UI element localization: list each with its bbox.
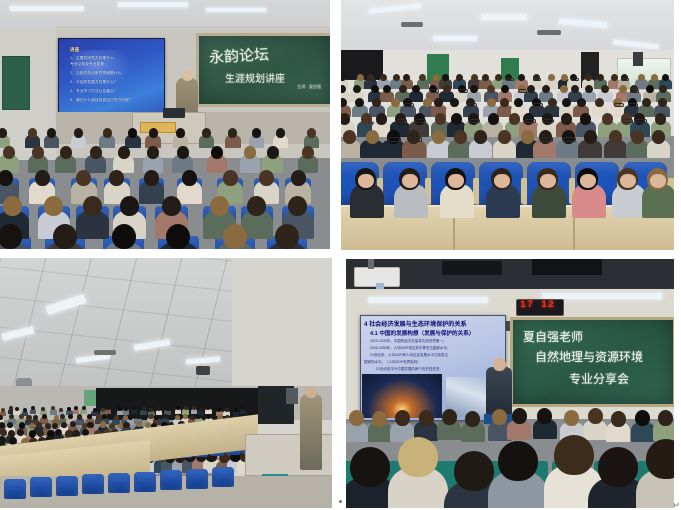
person-head [577, 98, 586, 107]
slide-line: 4、专业学习方法以及重点？ [70, 89, 118, 94]
person-head [76, 170, 91, 186]
person-head [19, 414, 24, 419]
eyeglasses [563, 137, 576, 142]
eyeglasses [518, 89, 527, 93]
person-head [114, 415, 119, 420]
ceiling-fan [401, 22, 423, 27]
person-head [580, 113, 591, 125]
photo-bottom-right[interactable]: 17 12 4 社会经济发展与生态环境保护的关系 4.1 中国的发展构想（发展与… [346, 259, 674, 508]
blackboard: 夏自强老师 自然地理与资源环境 专业分享会 [510, 317, 674, 407]
blackboard-subheading: 生涯规划讲座 [225, 70, 285, 85]
slide-body-line: 国家的水平。（人均GDP世界前列） [364, 360, 421, 365]
classroom-door [2, 56, 30, 110]
person-head [15, 407, 19, 411]
person-head [611, 411, 626, 427]
person-head [223, 224, 247, 249]
projector [196, 366, 210, 375]
eyeglasses [635, 119, 646, 123]
person-head [19, 422, 25, 428]
person-head [247, 196, 266, 216]
person-head [128, 128, 137, 138]
slide-title: 讲座 [70, 47, 79, 53]
person-head [349, 410, 364, 426]
person-head [0, 224, 22, 249]
eyeglasses [368, 78, 376, 81]
person-head [176, 128, 185, 138]
person-head [124, 407, 128, 411]
person-head [564, 410, 579, 426]
slide-title: 4 社会经济发展与生态环境保护的关系 [364, 319, 467, 328]
eyeglasses [469, 119, 480, 123]
anchor-dot [339, 500, 342, 503]
ceiling-fan [94, 350, 116, 355]
person-head [210, 196, 229, 216]
slide-line: 2、当前的热点研究领域是什么。 [70, 71, 125, 76]
eyeglasses [533, 78, 541, 81]
person-head [3, 146, 15, 159]
document-canvas: 讲座 1、主要的研究方向是什么； 专业认知及专业前景； 2、当前的热点研究领域是… [0, 0, 681, 510]
person-head [142, 407, 146, 411]
person-face [358, 174, 374, 188]
person-head [54, 415, 59, 420]
person-head [225, 408, 229, 412]
person-head [267, 146, 279, 159]
person-head [509, 113, 520, 125]
person-head [652, 130, 665, 144]
blackboard-line-1: 夏自强老师 [523, 328, 583, 345]
person-head [118, 407, 122, 411]
eyeglasses [396, 119, 407, 123]
person-head [598, 447, 638, 487]
person-face [448, 174, 464, 188]
instructor-body [300, 394, 322, 470]
person-head [166, 224, 190, 249]
person-body [50, 409, 56, 414]
blackboard-heading: 永韵论坛 [208, 43, 269, 67]
person-head [61, 422, 67, 428]
ceiling-panel [532, 259, 602, 275]
ceiling-light [10, 6, 84, 11]
person-head [554, 435, 594, 475]
person-head [658, 98, 667, 107]
person-head [199, 408, 203, 412]
person-head [17, 429, 24, 436]
slide-body-line: 2020-2030年，中国的经济总量将达到世界第一； [370, 339, 446, 344]
person-head [642, 98, 651, 107]
person-head [32, 146, 44, 159]
person-head [154, 415, 159, 420]
eyeglasses [628, 103, 638, 107]
ceiling-fan [537, 30, 561, 35]
person-head [341, 113, 350, 125]
person-head [302, 146, 314, 159]
wall-speaker [633, 52, 643, 66]
person-head [435, 113, 446, 125]
photo-top-left-scene: 讲座 1、主要的研究方向是什么； 专业认知及专业前景； 2、当前的热点研究领域是… [0, 0, 330, 249]
person-head [87, 422, 93, 428]
eyeglasses [630, 89, 639, 93]
person-head [498, 130, 511, 144]
person-head [103, 128, 112, 138]
person-head [542, 85, 550, 93]
person-head [398, 437, 438, 477]
person-head [202, 128, 211, 138]
person-head [77, 414, 82, 419]
chair [82, 474, 104, 494]
person-head [275, 224, 299, 249]
photo-bottom-right-scene: 17 12 4 社会经济发展与生态环境保护的关系 4.1 中国的发展构想（发展与… [346, 259, 674, 508]
person-head [100, 421, 106, 427]
audience [0, 132, 330, 249]
laptop [163, 108, 185, 118]
person-head [118, 146, 130, 159]
person-head [443, 85, 451, 93]
person-head [44, 196, 63, 216]
eyeglasses [388, 137, 401, 142]
chair [212, 467, 234, 487]
eyeglasses [415, 119, 426, 123]
person-head [498, 441, 538, 481]
person-head [0, 415, 3, 420]
person-head [635, 410, 650, 426]
person-head [252, 128, 261, 138]
eyeglasses [543, 119, 554, 123]
person-face [402, 174, 418, 188]
person-head [36, 422, 42, 428]
person-head [450, 98, 459, 107]
eyeglasses [614, 103, 624, 107]
person-head [488, 113, 499, 125]
person-head [419, 410, 434, 426]
ceiling-panel [442, 261, 502, 275]
person-face [620, 174, 636, 188]
person-head [474, 130, 487, 144]
person-head [357, 74, 364, 81]
person-head [28, 128, 37, 138]
person-head [109, 423, 115, 429]
chair [30, 477, 52, 497]
person-head [646, 439, 674, 479]
person-head [35, 170, 50, 186]
person-head [47, 128, 56, 138]
person-head [376, 113, 387, 125]
eyeglasses [571, 78, 579, 81]
person-head [454, 130, 467, 144]
person-head [399, 85, 407, 93]
slide-body-line: 21世纪前半叶中国发展的两个历史性任务。 [376, 367, 443, 372]
blackboard: 永韵论坛 生涯规划讲座 主讲：夏自强 [196, 33, 330, 107]
person-head [74, 128, 83, 138]
person-head [33, 415, 38, 420]
person-head [144, 170, 159, 186]
person-head [259, 170, 274, 186]
projector-mount [368, 259, 374, 269]
person-head [548, 98, 557, 107]
slide-line: 3、今后的发展方向是什么？ [70, 80, 118, 85]
person-head [60, 146, 72, 159]
person-head [423, 98, 432, 107]
person-head [571, 85, 579, 93]
person-head [157, 407, 161, 411]
eyeglasses [404, 103, 414, 107]
person-face [580, 174, 596, 188]
person-head [23, 408, 27, 412]
person-head [190, 415, 195, 420]
instructor-head [305, 386, 317, 398]
person-head [90, 146, 102, 159]
person-head [395, 410, 410, 426]
person-head [584, 130, 597, 144]
person-head [162, 196, 181, 216]
person-head [244, 146, 256, 159]
chair [108, 473, 130, 493]
led-clock-time: 17 12 [520, 300, 555, 311]
person-head [655, 113, 666, 125]
person-head [59, 408, 63, 412]
photo-top-right[interactable] [341, 0, 674, 250]
person-head [109, 170, 124, 186]
eyeglasses [467, 103, 477, 107]
eyeglasses [524, 119, 535, 123]
person-head [42, 414, 47, 419]
person-head [3, 196, 22, 216]
person-head [1, 408, 5, 412]
person-head [123, 422, 129, 428]
person-head [611, 74, 618, 81]
person-head [465, 411, 480, 427]
eyeglasses [622, 119, 633, 123]
person-head [112, 224, 136, 249]
person-head [74, 406, 78, 410]
person-head [106, 406, 110, 410]
person-head [288, 196, 307, 216]
person-head [609, 130, 622, 144]
chair [4, 479, 26, 499]
person-face [650, 174, 666, 188]
person-head [166, 407, 170, 411]
slide-subtitle: 4.1 中国的发展构想（发展与保护的关系） [370, 329, 474, 337]
person-head [7, 422, 13, 428]
ceiling-light [481, 14, 527, 20]
person-head [588, 408, 603, 424]
person-head [454, 451, 494, 491]
person-head [521, 130, 534, 144]
speaker-head [493, 358, 506, 371]
person-head [658, 410, 673, 426]
photo-top-right-scene [341, 0, 674, 250]
lecturer-head [182, 70, 193, 81]
person-head [120, 196, 139, 216]
ceiling-light [368, 297, 488, 303]
person-head [163, 414, 168, 419]
audience-backs [346, 407, 674, 508]
person-head [55, 429, 62, 436]
person-head [128, 415, 133, 420]
person-head [93, 408, 97, 412]
ceiling-light [433, 36, 477, 41]
person-head [350, 447, 390, 487]
blackboard-line-3: 专业分享会 [569, 370, 629, 387]
person-head [512, 408, 527, 424]
person-head [175, 415, 180, 420]
eyeglasses [459, 89, 468, 93]
person-head [276, 128, 285, 138]
chair [56, 476, 78, 496]
eyeglasses [430, 89, 439, 93]
ceiling-light [206, 8, 266, 12]
person-head [482, 74, 489, 81]
photo-bottom-left[interactable] [0, 258, 332, 508]
person-head [0, 128, 7, 138]
person-head [442, 409, 457, 425]
person-head [291, 170, 306, 186]
person-head [0, 422, 5, 428]
ceiling-light [118, 2, 188, 7]
person-body [80, 409, 86, 414]
eyeglasses [533, 103, 543, 107]
person-head [561, 113, 572, 125]
eyeglasses [409, 137, 422, 142]
person-head [223, 170, 238, 186]
eyeglasses [621, 78, 629, 81]
person-head [68, 414, 73, 419]
slide-line: 1、主要的研究方向是什么； [70, 56, 118, 61]
person-head [432, 130, 445, 144]
person-head [53, 224, 77, 249]
person-head [149, 128, 158, 138]
person-head [631, 130, 644, 144]
slide-body-line: 21世纪末，人均GDP和人均社会发展水平达到发达 [370, 353, 448, 358]
chair [186, 469, 208, 489]
person-head [361, 113, 372, 125]
person-head [372, 411, 387, 427]
person-head [147, 146, 159, 159]
eyeglasses [540, 137, 553, 142]
wall-speaker [286, 388, 298, 404]
person-face [540, 174, 556, 188]
photo-bottom-left-scene [0, 258, 332, 508]
slide-line: 5、通过什么途径找到自己的方向呢？ [70, 98, 133, 103]
person-head [83, 196, 102, 216]
person-head [136, 414, 141, 419]
person-head [602, 113, 613, 125]
chair [134, 472, 156, 492]
person-head [211, 146, 223, 159]
person-head [307, 128, 316, 138]
blackboard-signature: 主讲：夏自强 [297, 84, 321, 90]
person-head [343, 130, 356, 144]
person-head [366, 130, 379, 144]
person-head [585, 74, 592, 81]
eyeglasses [506, 78, 514, 81]
person-head [487, 98, 496, 107]
photo-top-left[interactable]: 讲座 1、主要的研究方向是什么； 专业认知及专业前景； 2、当前的热点研究领域是… [0, 0, 330, 249]
chair [160, 470, 182, 490]
person-head [177, 146, 189, 159]
person-face [494, 174, 510, 188]
person-head [537, 408, 552, 424]
person-head [228, 128, 237, 138]
slide-body-line: 2040-2050年，人均GDP将达到中等发达国家水平； [370, 346, 450, 351]
blackboard-line-2: 自然地理与资源环境 [535, 348, 643, 365]
slide-line: 专业认知及专业前景； [70, 62, 108, 67]
person-head [451, 113, 462, 125]
person-head [182, 170, 197, 186]
